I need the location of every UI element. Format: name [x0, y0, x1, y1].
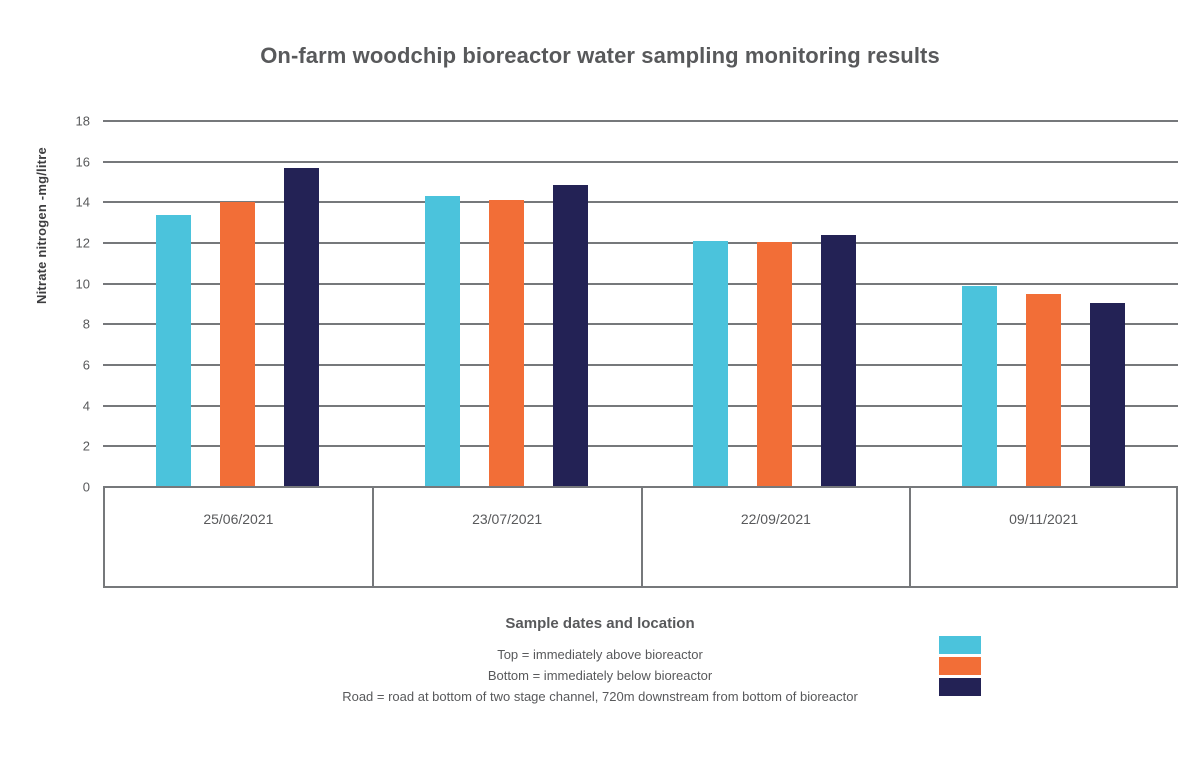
gridline: [103, 445, 1178, 447]
bar-top-2[interactable]: [425, 196, 460, 487]
x-axis-category-2: 23/07/2021: [372, 487, 641, 588]
y-tick-label: 18: [60, 114, 90, 129]
bar-top-4[interactable]: [962, 286, 997, 487]
x-tick-label: 09/11/2021: [911, 511, 1176, 527]
y-tick-label: 6: [60, 358, 90, 373]
chart-container: On-farm woodchip bioreactor water sampli…: [0, 0, 1200, 762]
gridline: [103, 283, 1178, 285]
x-axis-category-4: 09/11/2021: [909, 487, 1178, 588]
bar-bottom-2[interactable]: [489, 200, 524, 487]
y-tick-label: 8: [60, 317, 90, 332]
bar-top-1[interactable]: [156, 215, 191, 487]
gridline: [103, 364, 1178, 366]
y-tick-label: 0: [60, 480, 90, 495]
bar-top-3[interactable]: [693, 241, 728, 487]
gridline: [103, 242, 1178, 244]
gridline: [103, 161, 1178, 163]
y-tick-label: 2: [60, 439, 90, 454]
y-tick-label: 14: [60, 195, 90, 210]
gridline: [103, 323, 1178, 325]
bar-bottom-1[interactable]: [220, 202, 255, 487]
legend-swatches: [939, 636, 981, 696]
legend-swatch-1[interactable]: [939, 636, 981, 654]
x-tick-label: 22/09/2021: [643, 511, 910, 527]
bar-bottom-4[interactable]: [1026, 294, 1061, 487]
y-tick-label: 4: [60, 398, 90, 413]
x-tick-label: 25/06/2021: [105, 511, 372, 527]
legend-heading: Sample dates and location: [0, 615, 1200, 632]
gridline: [103, 201, 1178, 203]
gridline: [103, 405, 1178, 407]
x-axis-category-1: 25/06/2021: [103, 487, 372, 588]
legend-label-3: Road = road at bottom of two stage chann…: [0, 686, 1200, 707]
y-tick-label: 16: [60, 154, 90, 169]
bar-road-4[interactable]: [1090, 303, 1125, 487]
legend-label-2: Bottom = immediately below bioreactor: [0, 665, 1200, 686]
bar-bottom-3[interactable]: [757, 242, 792, 487]
legend-swatch-2[interactable]: [939, 657, 981, 675]
legend-entries: Top = immediately above bioreactorBottom…: [0, 644, 1200, 707]
y-tick-label: 10: [60, 276, 90, 291]
x-tick-label: 23/07/2021: [374, 511, 641, 527]
y-axis-title: Nitrate nitrogen -mg/litre: [34, 147, 49, 304]
chart-title: On-farm woodchip bioreactor water sampli…: [0, 43, 1200, 69]
bar-road-3[interactable]: [821, 235, 856, 487]
plot-area: [103, 121, 1178, 487]
bar-road-1[interactable]: [284, 168, 319, 487]
legend-label-1: Top = immediately above bioreactor: [0, 644, 1200, 665]
gridline: [103, 120, 1178, 122]
bar-road-2[interactable]: [553, 185, 588, 487]
x-axis-category-3: 22/09/2021: [641, 487, 910, 588]
y-tick-label: 12: [60, 236, 90, 251]
legend-swatch-3[interactable]: [939, 678, 981, 696]
